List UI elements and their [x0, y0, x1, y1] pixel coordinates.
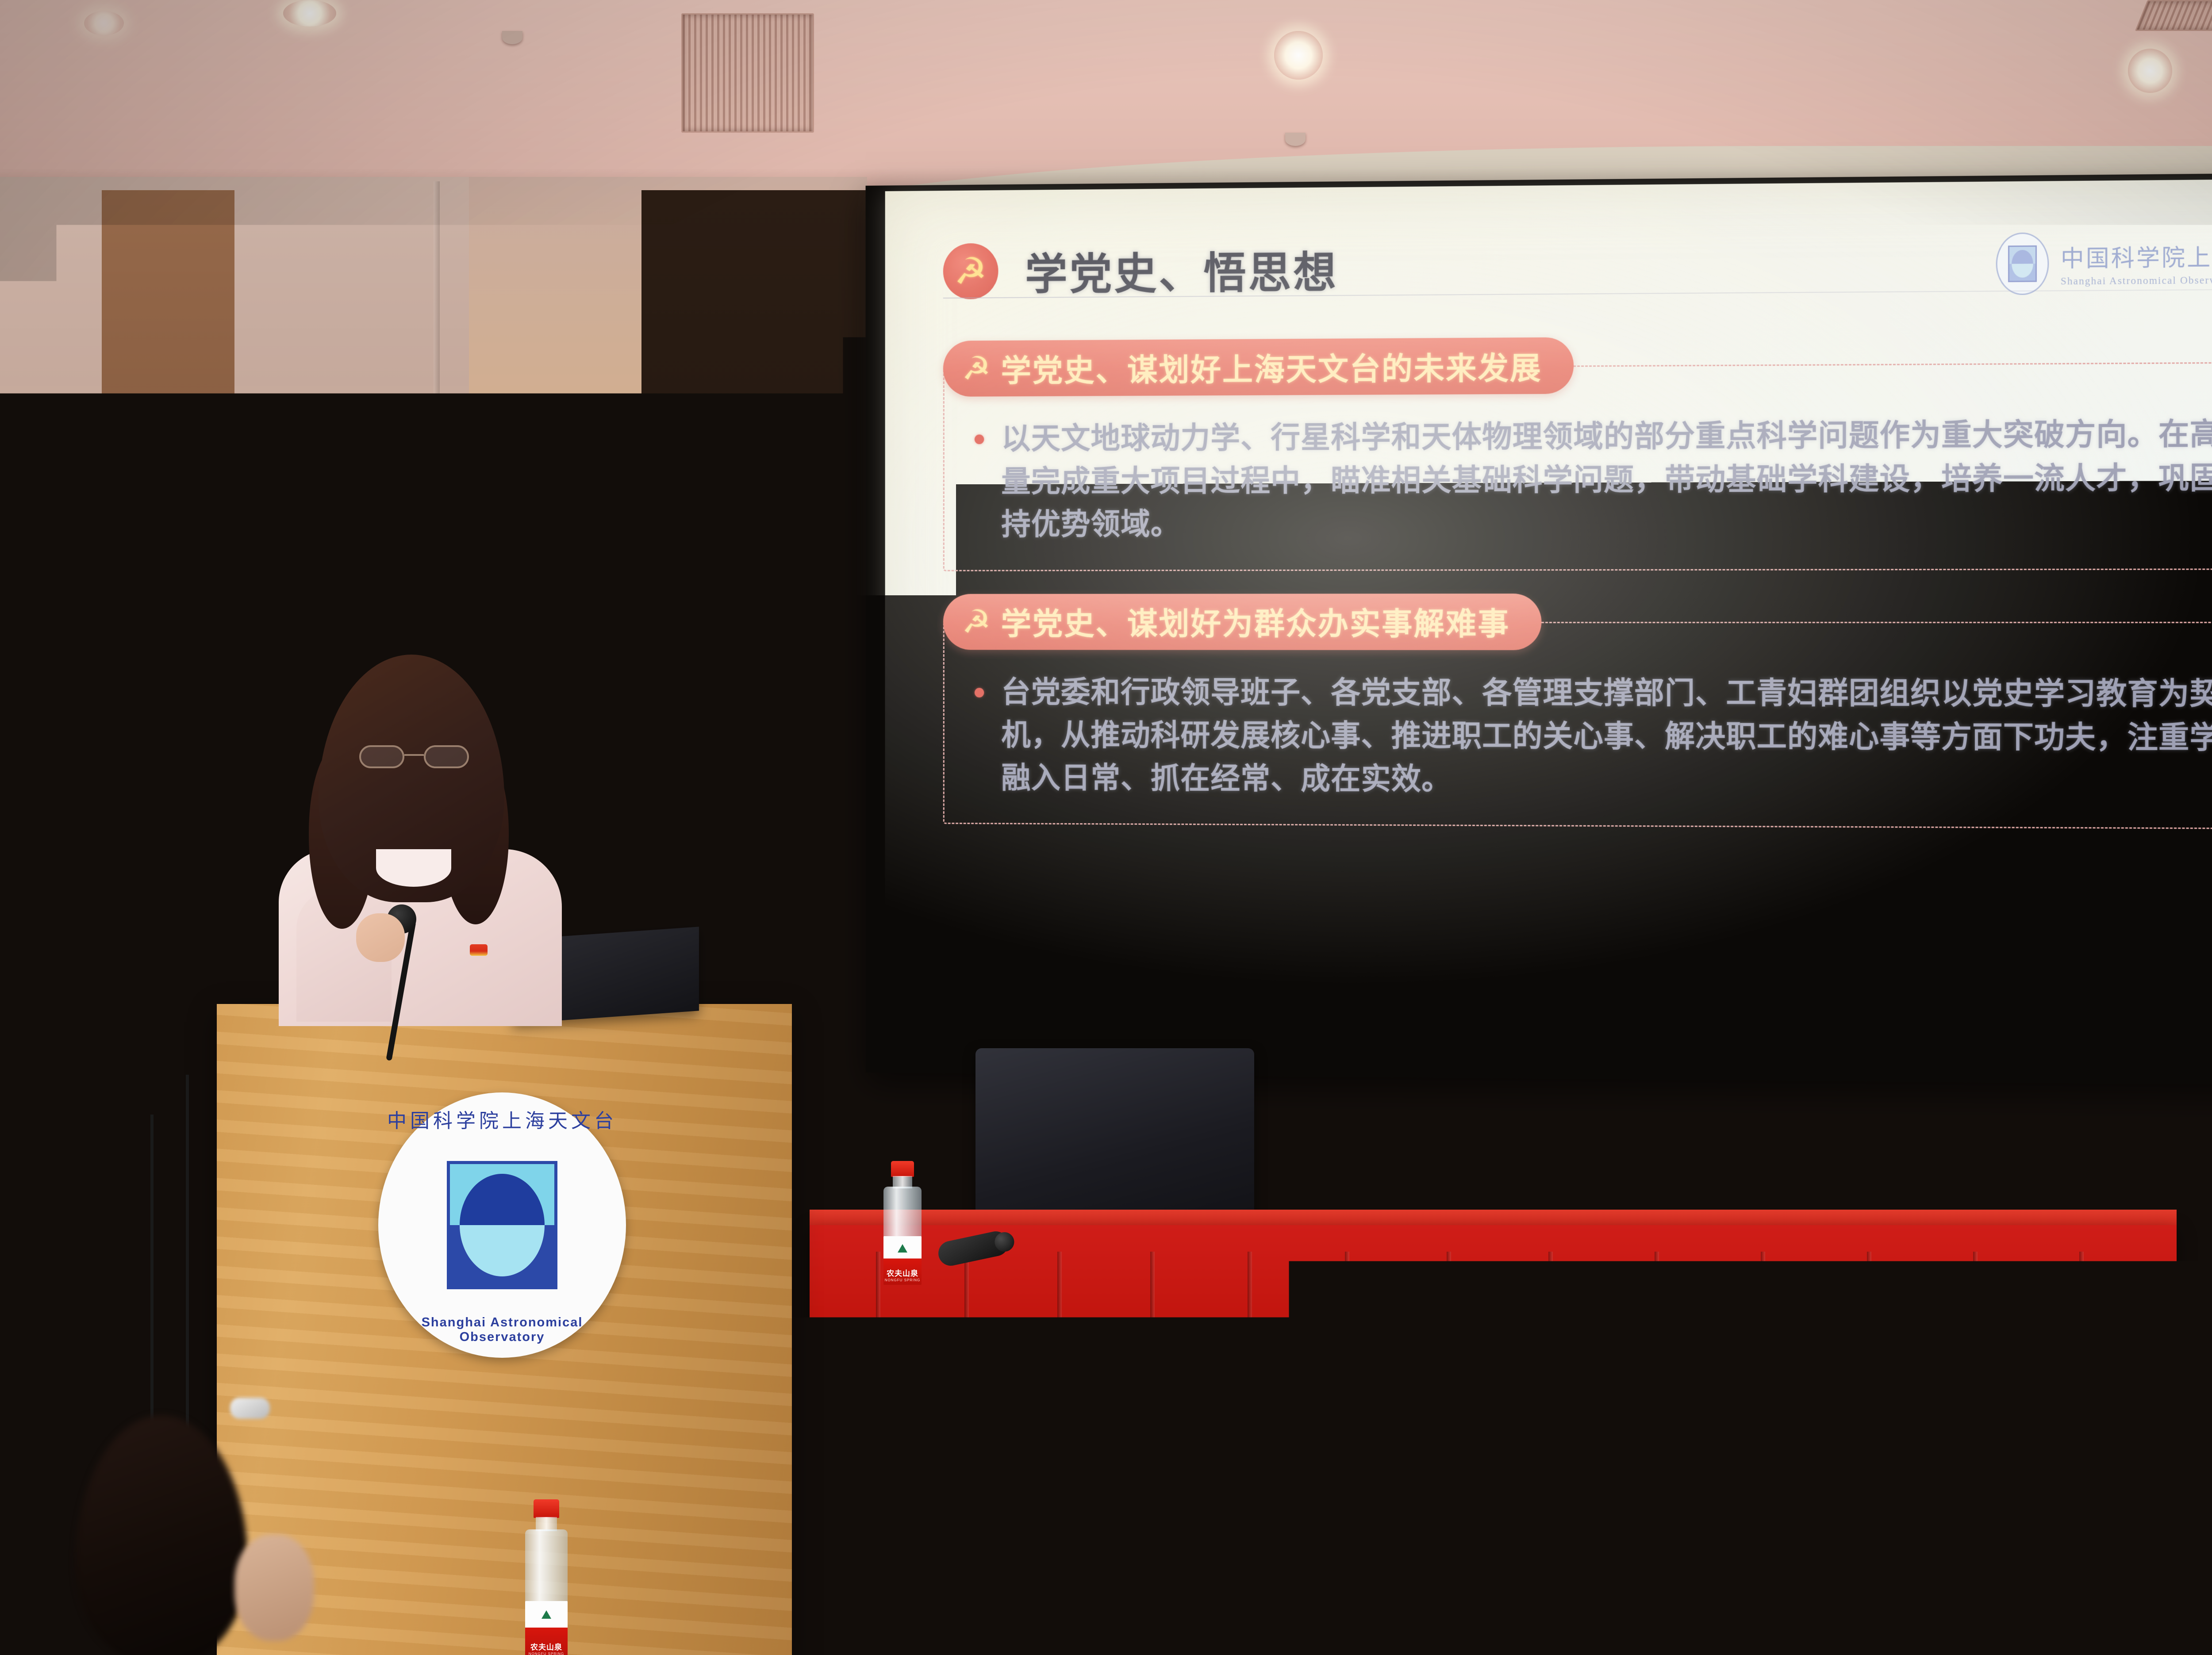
bottle-label: 农夫山泉 NONGFU SPRING: [1990, 1589, 2036, 1654]
observatory-seal-icon: [1996, 232, 2049, 295]
bottle-label: 农夫山泉 NONGFU SPRING: [1388, 1590, 1434, 1654]
table-cloth-pleat: [1248, 1252, 1252, 1605]
bottle-brand-cn: 农夫山泉: [1997, 1639, 2029, 1647]
table-cloth-pleat: [1867, 1252, 1871, 1605]
bullet-text: 台党委和行政领导班子、各党支部、各管理支撑部门、工青妇群团组织以党史学习教育为契…: [1001, 671, 2212, 804]
hammer-sickle-glyph: ☭: [962, 352, 991, 385]
section-banner-label: 学党史、谋划好为群众办实事解难事: [1001, 599, 1510, 644]
content-box: 台党委和行政领导班子、各党支部、各管理支撑部门、工青妇群团组织以党史学习教育为契…: [943, 622, 2212, 830]
podium-seal-emblem: [447, 1161, 557, 1289]
bottle-cap: [1398, 1477, 1425, 1498]
flag-star-small: ★: [36, 655, 58, 679]
air-vent-grille: [681, 13, 814, 133]
table-cloth-pleat: [2079, 1252, 2084, 1605]
table-cloth-pleat: [1447, 1252, 1451, 1605]
head-table-cloth: [810, 1225, 2177, 1614]
presentation-slide: ☭ 学党史、悟思想 中国科学院上海天文台 Shanghai Astronomic…: [885, 178, 2212, 1073]
air-vent-grille: [2135, 0, 2212, 31]
slide-block: ☭ 学党史、谋划好为群众办实事解难事 台党委和行政领导班子、各党支部、各管理支撑…: [943, 593, 2212, 830]
podium-observatory-seal: 中国科学院上海天文台 Shanghai Astronomical Observa…: [378, 1092, 626, 1358]
water-bottle[interactable]: 农夫山泉 NONGFU SPRING: [513, 1499, 580, 1655]
flag-star-small: ★: [86, 555, 108, 580]
bottle-label: 农夫山泉 NONGFU SPRING: [525, 1601, 568, 1655]
bottle-brand-cn: 农夫山泉: [530, 1644, 562, 1651]
table-cloth-pleat: [1761, 1252, 1765, 1605]
bottle-brand-en: NONGFU SPRING: [885, 1279, 921, 1282]
hair-clip: [230, 1398, 270, 1419]
bottle-brand-en: NONGFU SPRING: [529, 1652, 565, 1655]
slide-header: ☭ 学党史、悟思想 中国科学院上海天文台 Shanghai Astronomic…: [943, 219, 2212, 313]
glasses-lens: [424, 745, 469, 768]
bottle-neck: [2001, 1488, 2024, 1503]
hammer-sickle-glyph: ☭: [962, 605, 991, 638]
section-banner-label: 学党史、谋划好上海天文台的未来发展: [1001, 343, 1542, 391]
table-cloth-pleat: [1548, 1252, 1553, 1605]
speaker-presenter: [265, 655, 584, 1022]
bottle-brand-cn: 农夫山泉: [1395, 1639, 1427, 1647]
water-bottle[interactable]: 农夫山泉 NONGFU SPRING: [1376, 1477, 1447, 1654]
ceiling-downlight: [1274, 31, 1323, 80]
speaker-collar: [376, 849, 451, 887]
bullet-dot-icon: [975, 688, 984, 697]
water-bottle[interactable]: 农夫山泉 NONGFU SPRING: [1978, 1468, 2048, 1654]
bullet-item: 台党委和行政领导班子、各党支部、各管理支撑部门、工青妇群团组织以党史学习教育为契…: [975, 671, 2212, 804]
lecture-hall-photo: ★ ★ ★ ★ ★ ☭ 学党史、悟思想 中国科学院上海天文台 Shanghai …: [0, 0, 2212, 1655]
bottle-brand-en: NONGFU SPRING: [1394, 1648, 1429, 1651]
audience-face: [234, 1535, 314, 1641]
bottle-cap: [891, 1161, 914, 1177]
speaker-hand: [356, 913, 405, 962]
bottle-neck: [1400, 1497, 1423, 1512]
flag-star-small: ★: [65, 507, 88, 532]
bottle-cap: [534, 1499, 559, 1518]
mountain-peak-icon: [541, 1610, 551, 1619]
observatory-logo-text: 中国科学院上海天文台 Shanghai Astronomical Observa…: [2061, 238, 2212, 287]
section-banner: ☭ 学党史、谋划好上海天文台的未来发展: [943, 337, 1574, 396]
flag-star-small: ★: [77, 615, 100, 640]
flag-star-large: ★: [10, 548, 69, 615]
glasses-lens: [359, 745, 404, 768]
observatory-name-cn: 中国科学院上海天文台: [2061, 238, 2212, 273]
ceiling-downlight: [283, 0, 336, 27]
speaker-glasses: [359, 745, 470, 768]
mountain-peak-icon: [2008, 1599, 2018, 1608]
mountain-peak-icon: [1406, 1600, 1416, 1609]
slide-title: 学党史、悟思想: [1025, 238, 1338, 302]
podium-seal-name-cn: 中国科学院上海天文台: [378, 1105, 626, 1133]
table-cloth-pleat: [1345, 1252, 1349, 1605]
party-emblem-icon: ☭: [943, 243, 998, 299]
bottle-brand-en: NONGFU SPRING: [1995, 1648, 2031, 1651]
table-cloth-pleat: [1655, 1252, 1659, 1605]
bottle-label: 农夫山泉 NONGFU SPRING: [883, 1236, 922, 1285]
bullet-dot-icon: [975, 434, 984, 444]
mountain-peak-icon: [898, 1244, 907, 1253]
observatory-emblem-shape: [2008, 245, 2037, 282]
slide-block: ☭ 学党史、谋划好上海天文台的未来发展 以天文地球动力学、行星科学和天体物理领域…: [943, 333, 2212, 571]
table-cloth-pleat: [1150, 1252, 1155, 1605]
podium-seal-name-en: Shanghai Astronomical Observatory: [378, 1315, 626, 1345]
section-banner: ☭ 学党史、谋划好为群众办实事解难事: [943, 594, 1542, 650]
bottle-cap: [1999, 1468, 2027, 1489]
chinese-national-flag: ★ ★ ★ ★ ★: [0, 469, 270, 805]
observatory-name-en: Shanghai Astronomical Observatory, CAS: [2061, 274, 2212, 287]
water-bottle[interactable]: 农夫山泉 NONGFU SPRING: [874, 1161, 931, 1285]
sprinkler-head: [502, 31, 522, 44]
hammer-sickle-glyph: ☭: [954, 253, 987, 290]
glasses-bridge: [404, 754, 424, 756]
bottle-brand-cn: 农夫山泉: [887, 1270, 918, 1277]
bullet-text: 以天文地球动力学、行星科学和天体物理领域的部分重点科学问题作为重大突破方向。在高…: [1001, 413, 2212, 546]
observatory-logo: 中国科学院上海天文台 Shanghai Astronomical Observa…: [1996, 230, 2212, 295]
party-lapel-pin-icon: [470, 944, 488, 956]
bullet-item: 以天文地球动力学、行星科学和天体物理领域的部分重点科学问题作为重大突破方向。在高…: [975, 413, 2212, 546]
table-cloth-pleat: [1973, 1252, 1978, 1605]
sprinkler-head: [1285, 133, 1306, 146]
table-cloth-pleat: [1057, 1252, 1062, 1605]
ceiling-downlight: [84, 11, 124, 35]
ceiling-downlight: [2128, 49, 2172, 93]
